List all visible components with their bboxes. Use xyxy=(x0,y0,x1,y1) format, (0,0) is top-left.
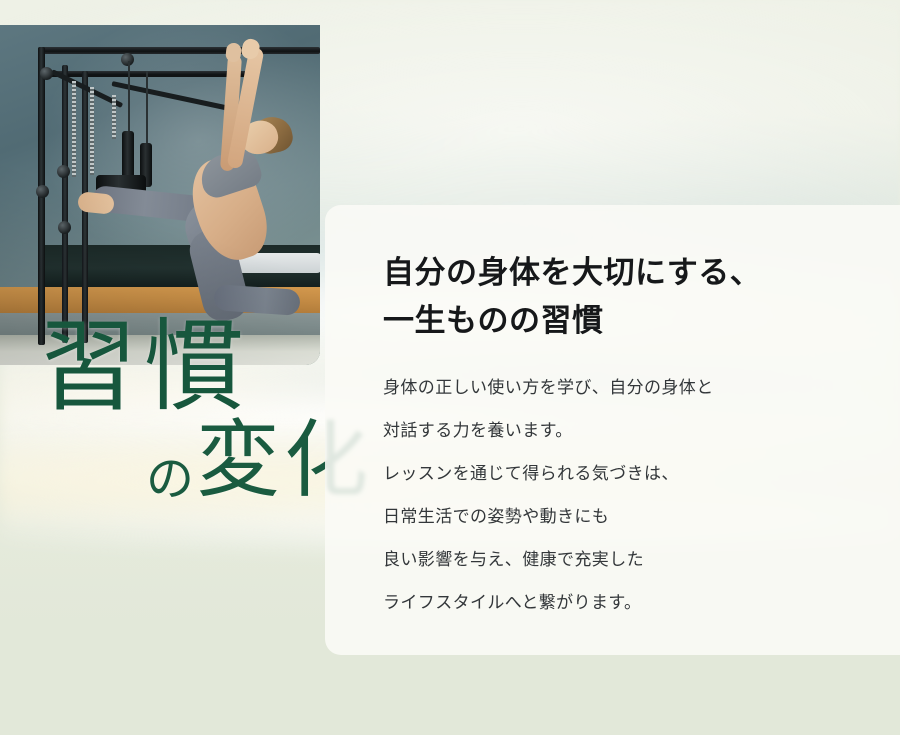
body-line: 日常生活での姿勢や動きにも xyxy=(383,495,882,538)
content-card: 自分の身体を大切にする、 一生ものの習慣 身体の正しい使い方を学び、自分の身体と… xyxy=(325,205,900,655)
body-line: 対話する力を養います。 xyxy=(383,409,882,452)
headline-line-1: 自分の身体を大切にする、 xyxy=(383,255,761,290)
body-line: レッスンを通じて得られる気づきは、 xyxy=(383,452,882,495)
page-title: 自分の身体を大切にする、 一生ものの習慣 xyxy=(383,249,882,345)
body-line: ライフスタイルへと繋がります。 xyxy=(383,581,882,624)
pilates-cadillac-photo xyxy=(0,25,320,365)
hero-section: 習慣 の変化 自分の身体を大切にする、 一生ものの習慣 身体の正しい使い方を学び… xyxy=(0,0,900,735)
headline-line-2: 一生ものの習慣 xyxy=(383,297,882,345)
content-card-inner: 自分の身体を大切にする、 一生ものの習慣 身体の正しい使い方を学び、自分の身体と… xyxy=(383,249,882,624)
body-line: 良い影響を与え、健康で充実した xyxy=(383,538,882,581)
body-copy: 身体の正しい使い方を学び、自分の身体と 対話する力を養います。 レッスンを通じて… xyxy=(383,345,882,624)
photo-vignette xyxy=(0,25,320,365)
body-line: 身体の正しい使い方を学び、自分の身体と xyxy=(383,366,882,409)
